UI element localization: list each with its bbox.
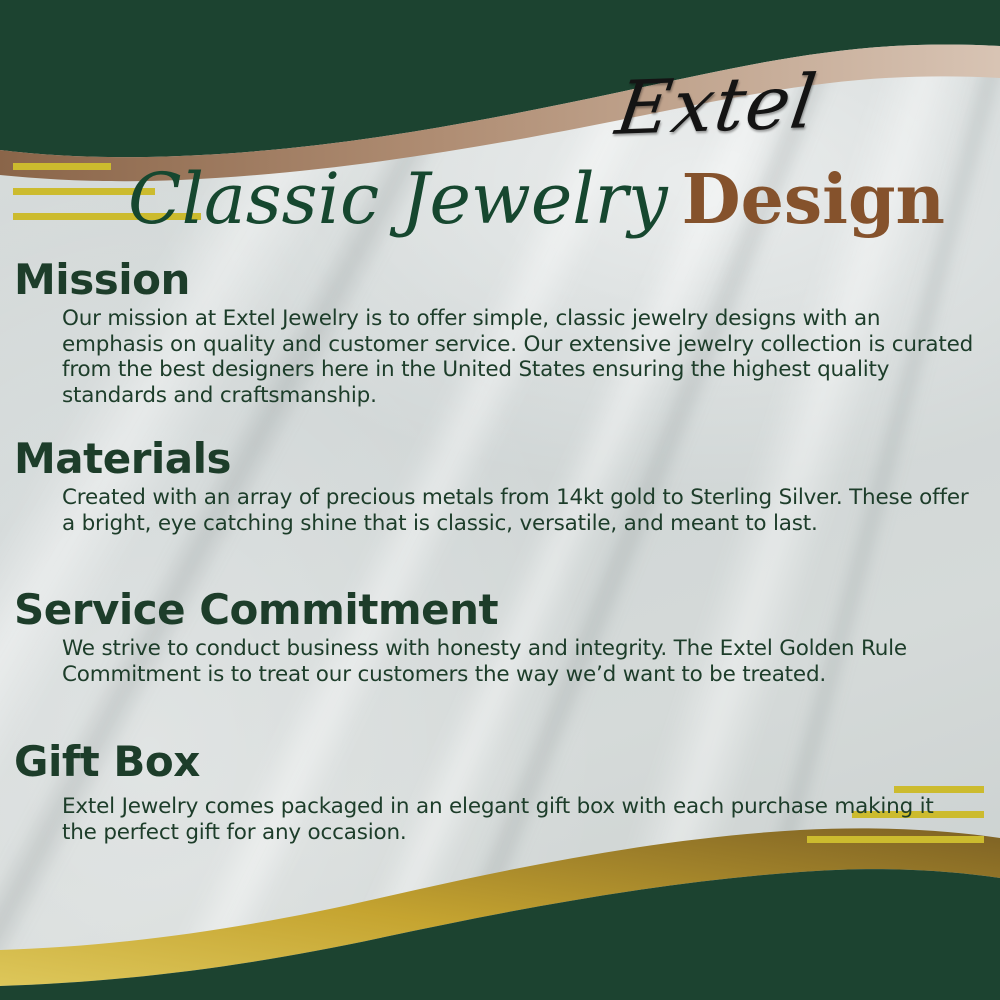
section-mission: Mission Our mission at Extel Jewelry is … xyxy=(0,258,1000,408)
section-gift-box: Gift Box Extel Jewelry comes packaged in… xyxy=(0,740,1000,845)
page-title: Classic JewelryDesign xyxy=(0,158,945,240)
section-body-service-commitment: We strive to conduct business with hones… xyxy=(62,636,974,687)
section-service-commitment: Service Commitment We strive to conduct … xyxy=(0,588,1000,687)
section-heading-service-commitment: Service Commitment xyxy=(14,588,1000,632)
section-body-mission: Our mission at Extel Jewelry is to offer… xyxy=(62,306,974,408)
section-body-materials: Created with an array of precious metals… xyxy=(62,485,974,536)
section-materials: Materials Created with an array of preci… xyxy=(0,437,1000,536)
poster-canvas: Extel Classic JewelryDesign Mission Our … xyxy=(0,0,1000,1000)
headline-primary: Classic Jewelry xyxy=(128,158,668,240)
section-heading-mission: Mission xyxy=(14,258,1000,302)
section-body-gift-box: Extel Jewelry comes packaged in an elega… xyxy=(62,794,974,845)
section-heading-gift-box: Gift Box xyxy=(14,740,1000,784)
section-heading-materials: Materials xyxy=(14,437,1000,481)
headline-secondary: Design xyxy=(682,160,945,240)
brand-script-logo: Extel xyxy=(612,60,964,146)
